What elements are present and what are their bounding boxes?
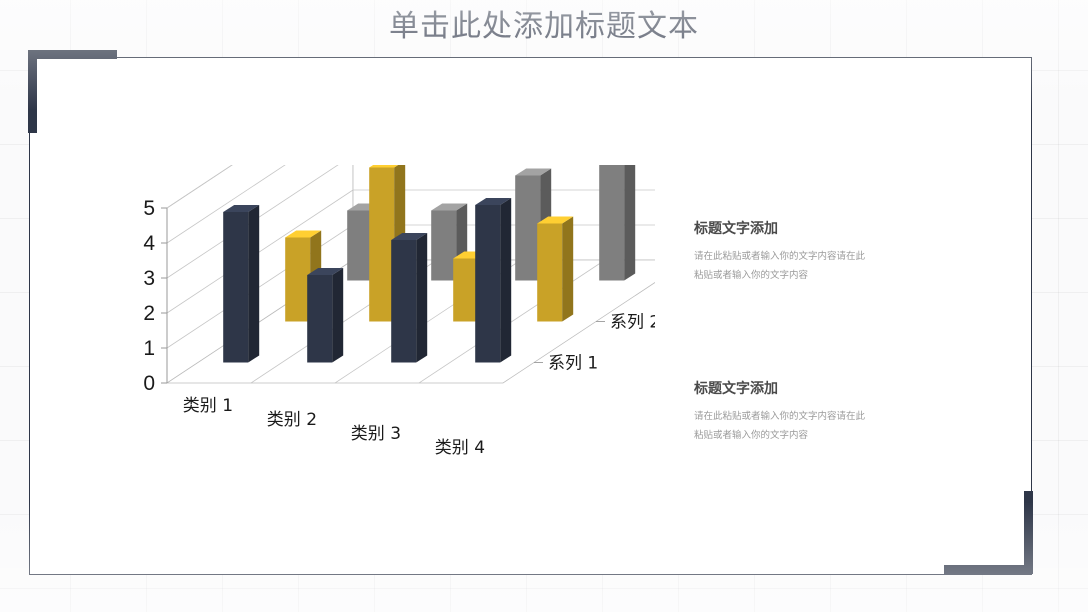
text-block-1: 标题文字添加 请在此粘贴或者输入你的文字内容请在此 粘贴或者输入你的文字内容 xyxy=(694,218,944,285)
corner-accent-top-left-horizontal xyxy=(28,50,117,59)
y-axis-tick-label: 1 xyxy=(143,337,155,360)
y-axis-tick-label: 0 xyxy=(143,372,155,395)
bar-front-face xyxy=(599,165,624,281)
corner-accent-bottom-right-horizontal xyxy=(944,565,1033,574)
corner-accent-bottom-right-vertical xyxy=(1024,491,1033,574)
bar-front-face xyxy=(285,238,310,322)
text-block-2-heading: 标题文字添加 xyxy=(694,378,944,398)
text-block-1-heading: 标题文字添加 xyxy=(694,218,944,238)
text-block-2-line-1: 请在此粘贴或者输入你的文字内容请在此 xyxy=(694,407,944,426)
y-axis-tick-label: 3 xyxy=(143,267,155,290)
value-axis: 012345 xyxy=(143,197,167,395)
bar-chart-3d: 012345类别 1类别 2类别 3类别 4系列 1系列 2系列 3 xyxy=(95,165,655,485)
chart-svg: 012345类别 1类别 2类别 3类别 4系列 1系列 2系列 3 xyxy=(95,165,655,485)
title-block: 单击此处添加标题文本 xyxy=(0,8,1088,46)
text-block-1-line-1: 请在此粘贴或者输入你的文字内容请在此 xyxy=(694,247,944,266)
bar-side-face xyxy=(500,198,511,363)
bar-front-face xyxy=(347,211,372,281)
bar-front-face xyxy=(391,240,416,363)
category-axis-label: 类别 2 xyxy=(267,410,317,430)
category-axis-label: 类别 3 xyxy=(351,424,401,444)
category-axis-label: 类别 4 xyxy=(435,438,485,458)
bar-front-face xyxy=(475,205,500,363)
bar-front-face xyxy=(537,224,562,322)
category-axis-label: 类别 1 xyxy=(183,396,233,416)
y-axis-tick-label: 5 xyxy=(143,197,155,220)
bar-front-face xyxy=(431,211,456,281)
bar-front-face xyxy=(515,176,540,281)
text-block-2-line-2: 粘贴或者输入你的文字内容 xyxy=(694,426,944,445)
corner-accent-top-left-vertical xyxy=(28,50,37,133)
text-block-2: 标题文字添加 请在此粘贴或者输入你的文字内容请在此 粘贴或者输入你的文字内容 xyxy=(694,378,944,445)
bar-side-face xyxy=(248,205,259,363)
category-axis: 类别 1类别 2类别 3类别 4 xyxy=(183,396,485,458)
bar-side-face xyxy=(332,268,343,363)
bar-front-face xyxy=(307,275,332,363)
text-block-1-line-2: 粘贴或者输入你的文字内容 xyxy=(694,266,944,285)
bar-front-face xyxy=(369,168,394,322)
bar-front-face xyxy=(223,212,248,363)
series-axis-label: 系列 2 xyxy=(610,313,655,333)
y-axis-tick-label: 2 xyxy=(143,302,155,325)
y-axis-tick-label: 4 xyxy=(143,232,155,255)
bar-side-face xyxy=(416,233,427,363)
bar-front-face xyxy=(453,259,478,322)
bar-side-face xyxy=(562,217,573,322)
series-axis-label: 系列 1 xyxy=(548,354,598,374)
page-title: 单击此处添加标题文本 xyxy=(0,8,1088,46)
bar-side-face xyxy=(624,165,635,281)
